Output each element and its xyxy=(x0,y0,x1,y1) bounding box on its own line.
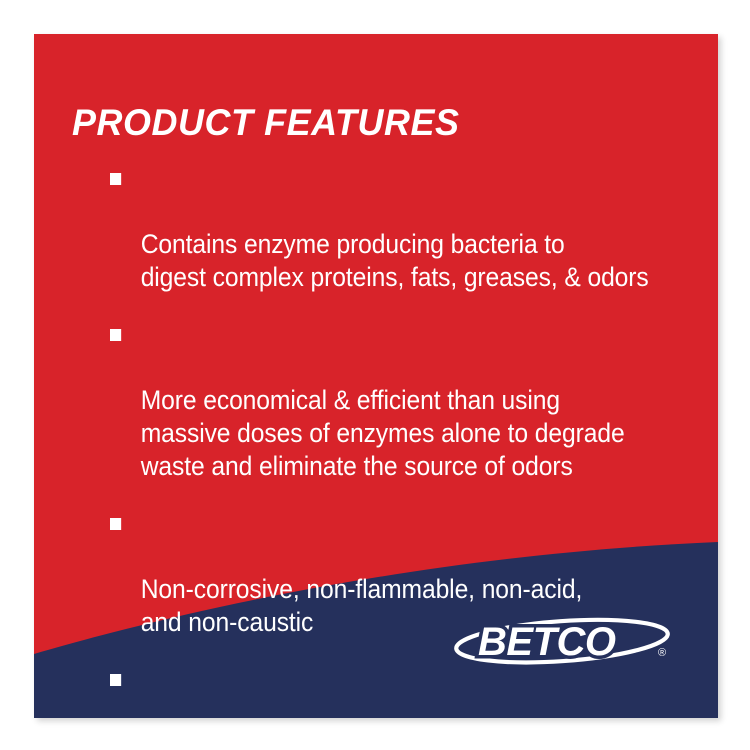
betco-wordmark: BETCO xyxy=(478,620,616,664)
feature-text: More economical & efficient than using m… xyxy=(141,385,625,481)
feature-card: PRODUCT FEATURES Contains enzyme produci… xyxy=(34,34,718,718)
square-bullet-icon xyxy=(110,518,121,530)
square-bullet-icon xyxy=(110,173,121,185)
registered-trademark-icon: ® xyxy=(658,647,666,659)
list-item: Odor eliminator xyxy=(110,663,668,718)
betco-logo-icon: BETCO ® xyxy=(454,612,674,670)
product-feature-card-image: PRODUCT FEATURES Contains enzyme produci… xyxy=(0,0,750,750)
square-bullet-icon xyxy=(110,674,121,686)
feature-text: Contains enzyme producing bacteria to di… xyxy=(141,229,649,292)
list-item: Contains enzyme producing bacteria to di… xyxy=(110,162,668,294)
list-item: More economical & efficient than using m… xyxy=(110,318,668,483)
betco-logo: BETCO ® xyxy=(454,612,674,670)
page-title: PRODUCT FEATURES xyxy=(72,102,459,144)
square-bullet-icon xyxy=(110,329,121,341)
